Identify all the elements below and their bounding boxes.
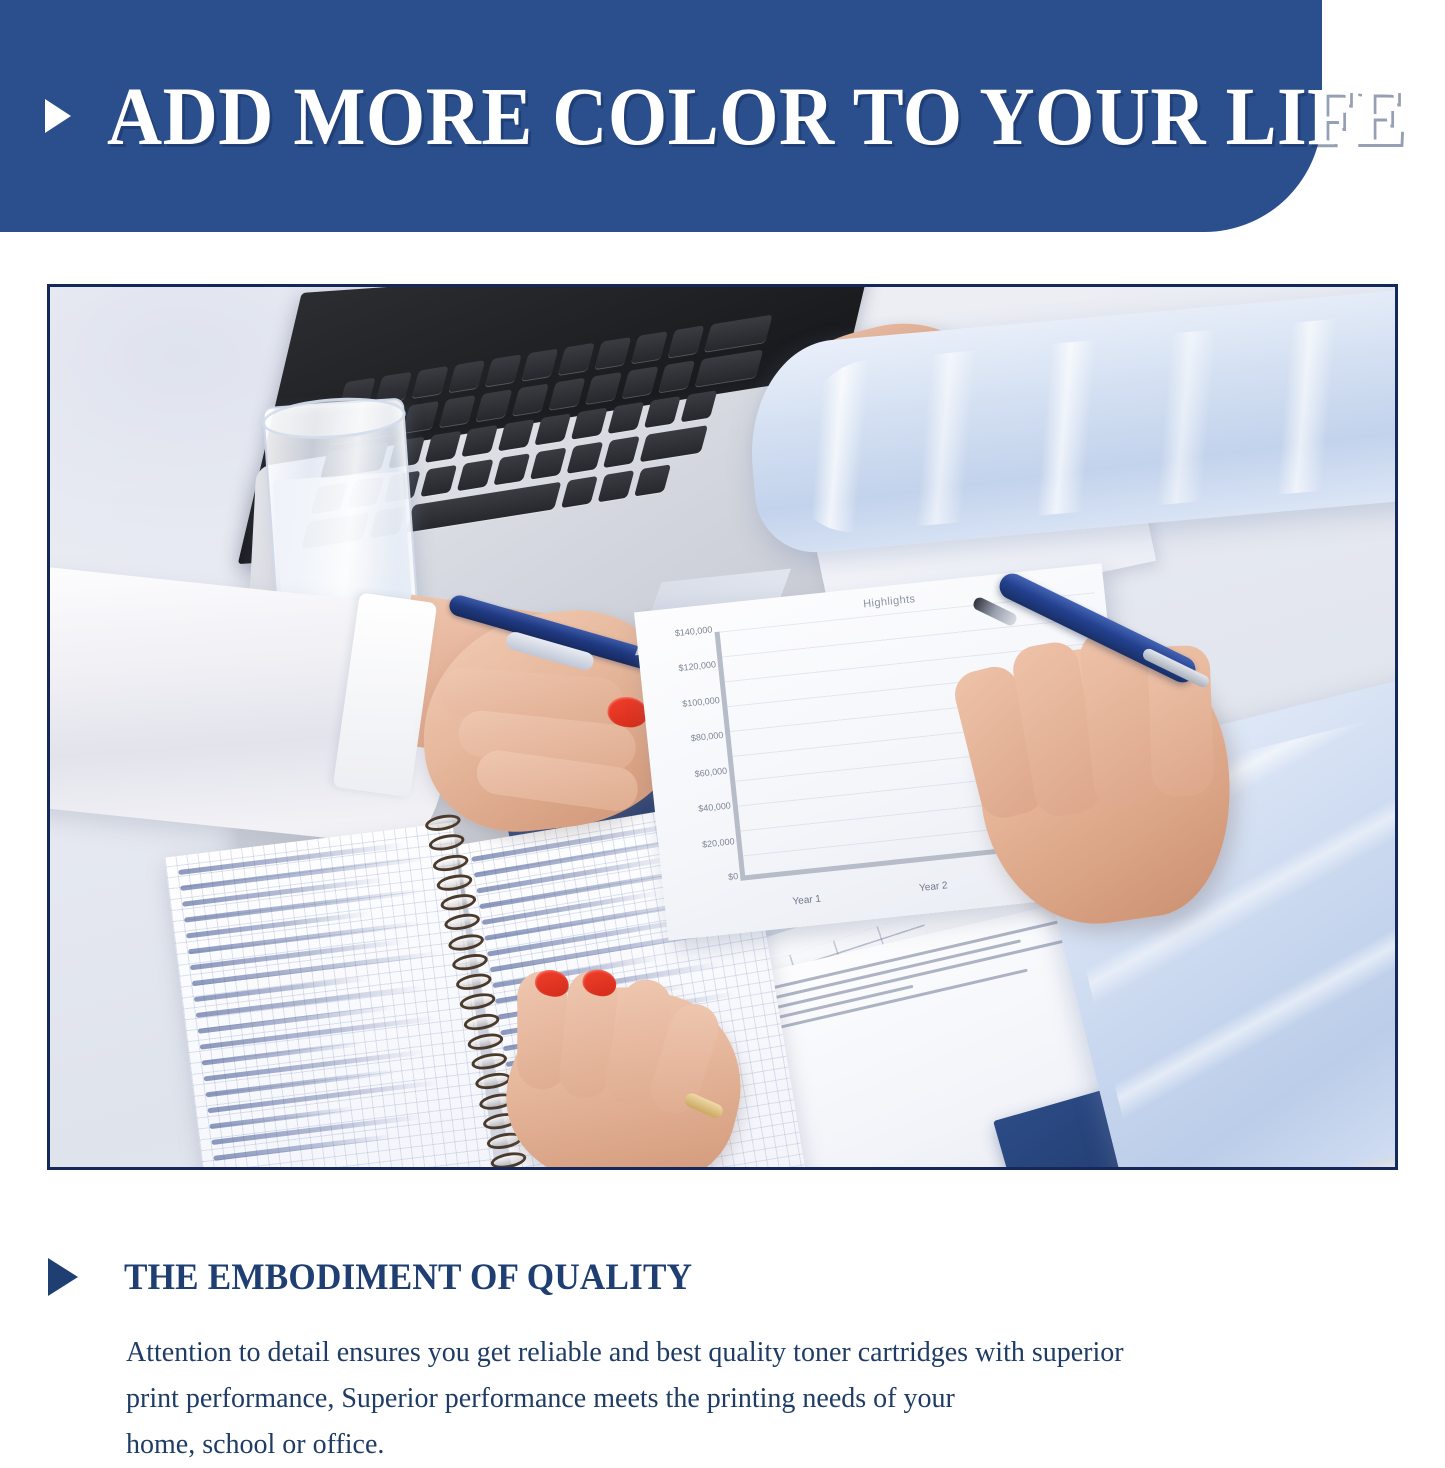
spiral-ring [424,812,462,834]
handwriting-line [188,921,421,954]
handwriting-line [192,951,441,986]
spiral-ring [432,852,470,874]
keyboard-key [622,366,659,398]
keyboard-key [634,464,671,496]
keyboard-key [558,343,595,375]
bar [902,852,964,858]
handwriting-line [207,1080,440,1113]
keyboard-key [695,350,764,387]
keyboard-key [658,360,695,392]
keyboard-key [571,408,608,440]
keyboard-key [667,325,704,357]
ring [683,1091,725,1120]
keyboard-key [475,389,512,421]
bar-secondary [828,862,868,866]
keyboard-key [594,337,631,369]
x-tick-label: Year 1 [792,894,822,908]
spiral-ring [439,891,477,913]
keyboard-key [585,372,622,404]
handwriting-line [190,939,407,971]
spiral-ring [435,872,473,894]
bar-secondary [946,850,986,854]
keyboard-key [512,383,549,415]
spiral-ring [455,971,493,993]
bottom-section: THE EMBODIMENT OF QUALITY Attention to d… [0,1240,1445,1445]
spiral-ring [447,931,485,953]
spiral-ring [443,911,481,933]
keyboard-key [448,360,485,392]
bar-group [896,852,970,860]
keyboard-key [603,436,640,468]
keyboard-key [631,331,668,363]
y-tick-label: $140,000 [674,624,712,638]
keyboard-key [420,465,457,497]
keyboard-key [644,396,681,428]
keyboard-key [412,366,449,398]
handwriting-line [200,1016,438,1050]
handwriting-line [196,985,424,1018]
photo-stage: Highlights $140,000 $120,000 $100,000 $8… [50,287,1395,1167]
spiral-ring [451,951,489,973]
triangle-right-icon [48,1258,78,1296]
hero-photo: Highlights $140,000 $120,000 $100,000 $8… [47,284,1398,1170]
keyboard-key [457,459,494,491]
quality-heading-row: THE EMBODIMENT OF QUALITY [48,1258,722,1296]
spiral-ring [489,1150,527,1167]
spiral-ring [459,991,497,1013]
spiral-ring [428,832,466,854]
spiral-ring [466,1031,504,1053]
y-tick-label: $60,000 [694,765,727,778]
keyboard-key [461,425,498,457]
quality-heading: THE EMBODIMENT OF QUALITY [124,1259,692,1296]
keyboard-key [439,395,476,427]
keyboard-key [425,431,462,463]
header-banner: ADD MORE COLOR TO YOUR LIFE [0,0,1322,232]
handwriting-line [204,1049,426,1081]
y-tick-label: $100,000 [682,695,720,709]
keyboard-key [521,349,558,381]
x-tick-label: Year 2 [919,880,949,894]
keyboard-key [498,419,535,451]
body-line: print performance, Superior performance … [126,1376,1326,1422]
keyboard-key [639,425,708,462]
keyboard-key [534,413,571,445]
keyboard-key [561,476,598,508]
keyboard-key [680,390,717,422]
handwriting-line [211,1114,423,1145]
spiral-ring [462,1011,500,1033]
handwriting-line [180,856,426,891]
keyboard-key [607,402,644,434]
handwriting-line [184,889,422,923]
spiral-ring [470,1051,508,1073]
keyboard-key [493,453,530,485]
y-tick-label: $0 [728,871,739,882]
banner-title: ADD MORE COLOR TO YOUR LIFE [107,75,1406,158]
y-tick-label: $120,000 [678,660,716,674]
y-tick-label: $20,000 [702,836,735,849]
bar [785,865,847,871]
keyboard-key [530,447,567,479]
triangle-right-icon [45,99,71,133]
keyboard-key [402,401,439,433]
handwriting-line [178,842,406,875]
keyboard-key [566,442,603,474]
bar-group [779,864,853,872]
body-line: home, school or office. [126,1422,1326,1468]
y-tick-label: $80,000 [690,730,723,743]
body-line: Attention to detail ensures you get reli… [126,1330,1326,1376]
quality-body-text: Attention to detail ensures you get reli… [126,1330,1326,1468]
handwriting-line [482,890,661,925]
keyboard-key [548,378,585,410]
keyboard-key [485,354,522,386]
y-tick-label: $40,000 [698,801,731,814]
keyboard-key [597,470,634,502]
